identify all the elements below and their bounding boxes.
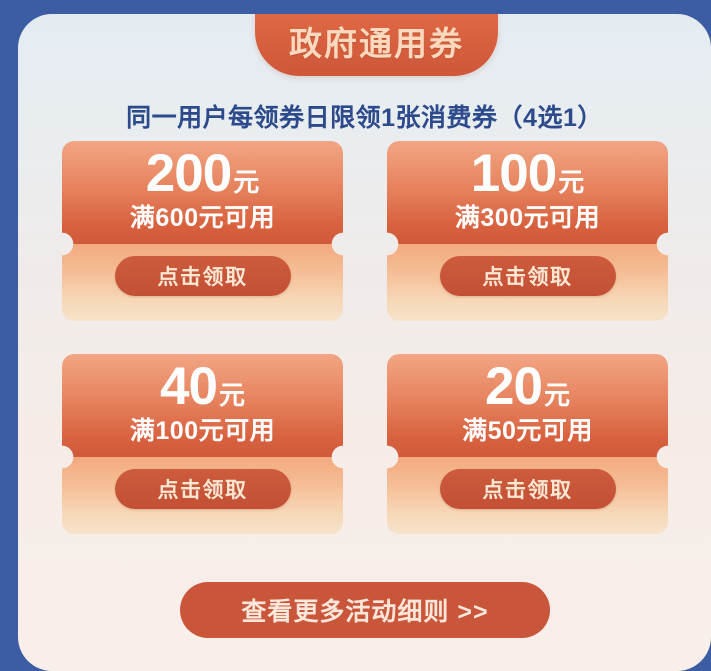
coupon-card[interactable]: 40 元 满100元可用 点击领取 — [62, 354, 343, 534]
coupon-amount: 20 元 — [485, 360, 570, 413]
coupon-condition: 满600元可用 — [130, 206, 275, 231]
view-rules-button[interactable]: 查看更多活动细则 >> — [180, 582, 550, 638]
promo-panel: 政府通用券 同一用户每领券日限领1张消费券（4选1） 200 元 满600元可用… — [18, 14, 711, 671]
coupon-amount-unit: 元 — [558, 169, 584, 195]
coupon-amount-number: 100 — [471, 147, 556, 200]
coupon-card[interactable]: 200 元 满600元可用 点击领取 — [62, 141, 343, 321]
title-ribbon: 政府通用券 — [255, 14, 498, 76]
claim-button[interactable]: 点击领取 — [440, 469, 616, 509]
coupon-amount: 40 元 — [160, 360, 245, 413]
coupon-amount-number: 200 — [146, 147, 231, 200]
claim-button[interactable]: 点击领取 — [115, 469, 291, 509]
coupon-condition: 满100元可用 — [130, 419, 275, 444]
coupon-action-section: 点击领取 — [387, 457, 668, 534]
page-title: 政府通用券 — [289, 27, 464, 76]
coupon-amount-unit: 元 — [233, 169, 259, 195]
coupon-value-section: 20 元 满50元可用 — [387, 354, 668, 457]
coupon-value-section: 40 元 满100元可用 — [62, 354, 343, 457]
coupon-card[interactable]: 100 元 满300元可用 点击领取 — [387, 141, 668, 321]
coupon-condition: 满50元可用 — [462, 419, 593, 444]
app-screen: 政府通用券 同一用户每领券日限领1张消费券（4选1） 200 元 满600元可用… — [0, 0, 711, 671]
claim-button[interactable]: 点击领取 — [440, 256, 616, 296]
coupon-action-section: 点击领取 — [62, 457, 343, 534]
coupon-card[interactable]: 20 元 满50元可用 点击领取 — [387, 354, 668, 534]
coupon-amount-unit: 元 — [219, 382, 245, 408]
coupon-condition: 满300元可用 — [455, 206, 600, 231]
subtitle-text: 同一用户每领券日限领1张消费券（4选1） — [18, 98, 711, 134]
coupon-amount-number: 20 — [485, 360, 542, 413]
coupon-amount-unit: 元 — [544, 382, 570, 408]
coupon-amount-number: 40 — [160, 360, 217, 413]
coupon-value-section: 200 元 满600元可用 — [62, 141, 343, 244]
coupon-action-section: 点击领取 — [62, 244, 343, 321]
coupon-grid: 200 元 满600元可用 点击领取 100 元 满300元可用 — [62, 141, 668, 534]
coupon-amount: 100 元 — [471, 147, 584, 200]
coupon-amount: 200 元 — [146, 147, 259, 200]
coupon-action-section: 点击领取 — [387, 244, 668, 321]
claim-button[interactable]: 点击领取 — [115, 256, 291, 296]
coupon-value-section: 100 元 满300元可用 — [387, 141, 668, 244]
